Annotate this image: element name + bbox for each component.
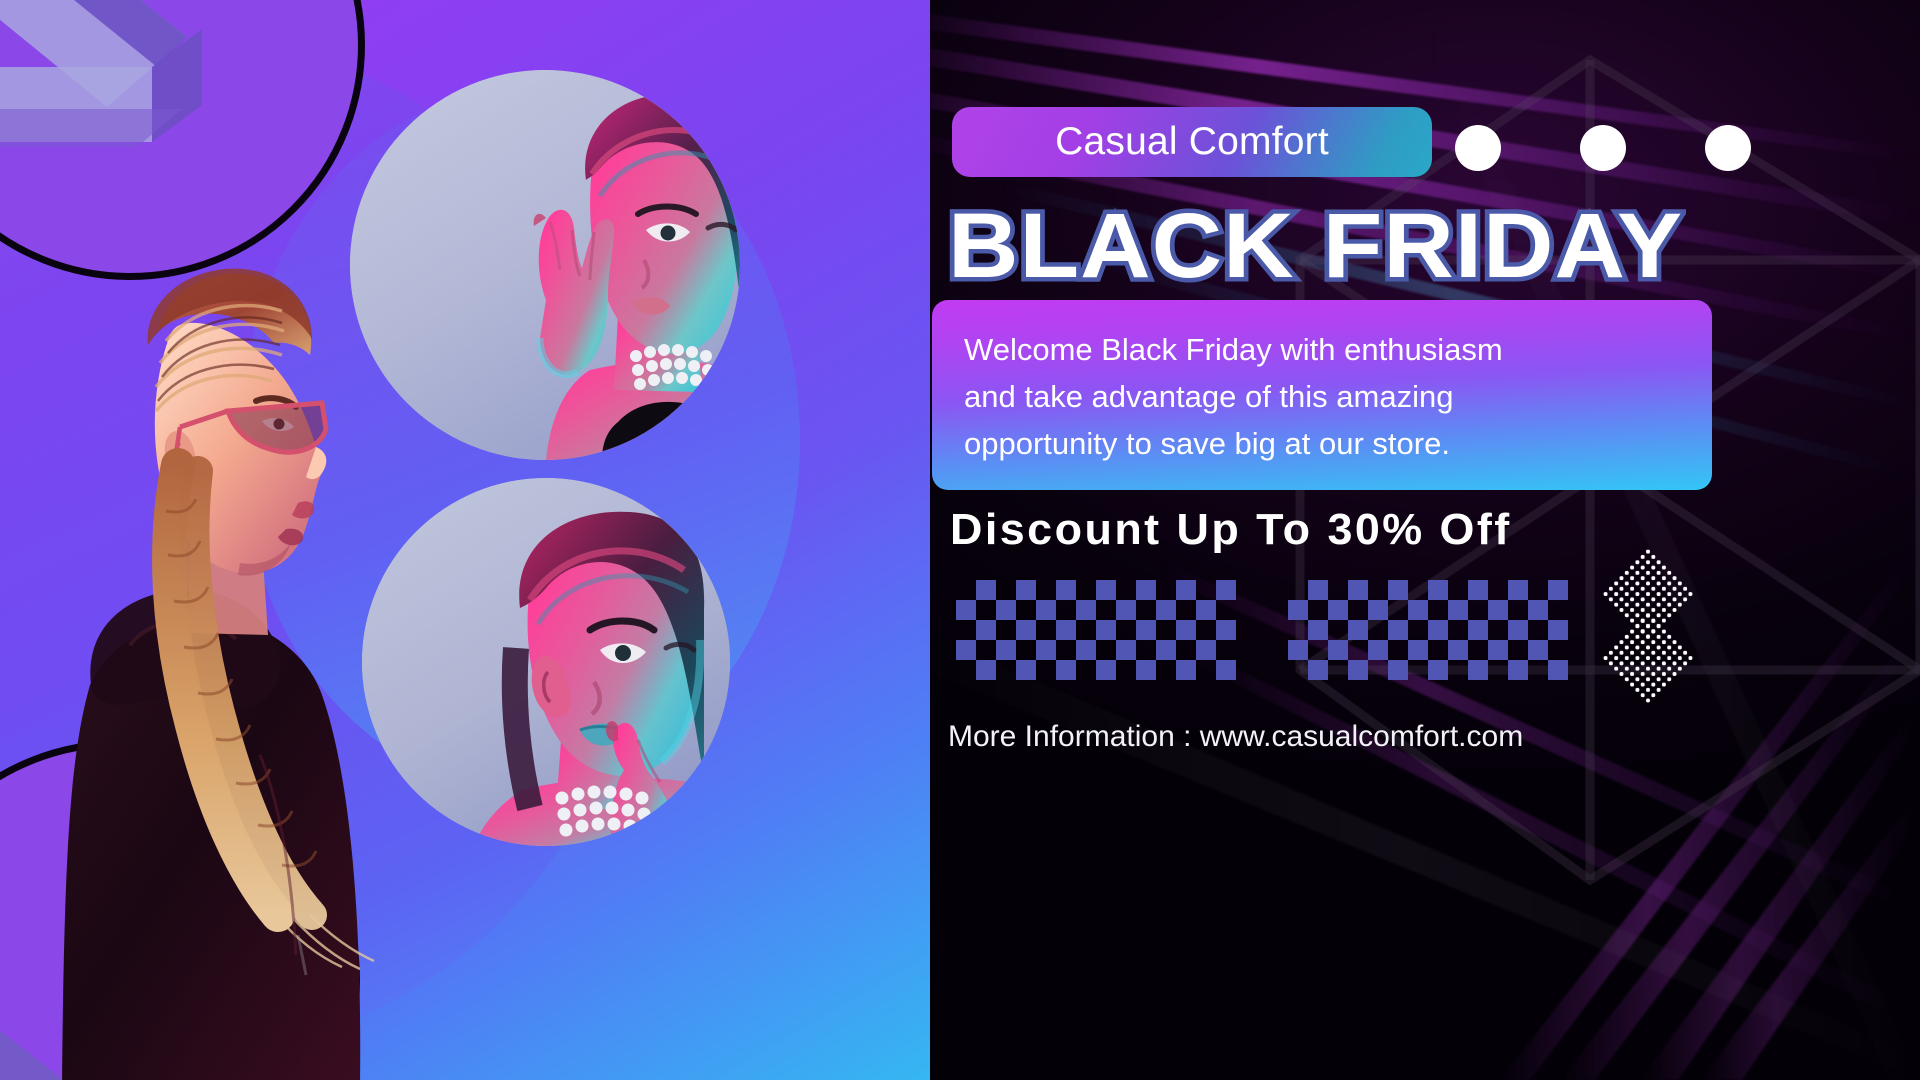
bullet-dot-icon — [1455, 125, 1501, 171]
description-line-1: Welcome Black Friday with enthusiasm — [964, 326, 1680, 373]
brand-badge[interactable]: Casual Comfort — [952, 107, 1432, 177]
bullet-dot-icon — [1580, 125, 1626, 171]
discount-text: Discount Up To 30% Off — [950, 505, 1512, 555]
black-friday-poster: Casual Comfort BLACK FRIDAY Welcome Blac… — [0, 0, 1920, 1080]
description-panel: Welcome Black Friday with enthusiasm and… — [932, 300, 1712, 490]
brand-badge-label: Casual Comfort — [1055, 120, 1329, 164]
headline-text: BLACK FRIDAY — [948, 194, 1683, 299]
description-line-3: opportunity to save big at our store. — [964, 420, 1680, 467]
checkerboard-group — [956, 580, 1568, 680]
dotted-diamond-icon — [1601, 610, 1694, 703]
checkerboard-pattern-icon — [956, 580, 1236, 680]
model-portrait-bottom — [362, 478, 730, 846]
dotted-diamond-group — [1608, 560, 1688, 690]
model-portrait-top — [350, 70, 740, 460]
description-line-2: and take advantage of this amazing — [964, 373, 1680, 420]
bullet-dot-icon — [1705, 125, 1751, 171]
page-title: BLACK FRIDAY — [948, 194, 1908, 289]
checkerboard-pattern-icon — [1288, 580, 1568, 680]
left-visual-panel — [0, 0, 930, 1080]
more-information-text: More Information : www.casualcomfort.com — [948, 720, 1523, 753]
discount-headline: Discount Up To 30% Off — [950, 505, 1501, 555]
content-column: Casual Comfort BLACK FRIDAY Welcome Blac… — [930, 0, 1920, 1080]
decorative-dots-group — [1455, 125, 1751, 171]
more-information[interactable]: More Information : www.casualcomfort.com — [948, 720, 1523, 754]
